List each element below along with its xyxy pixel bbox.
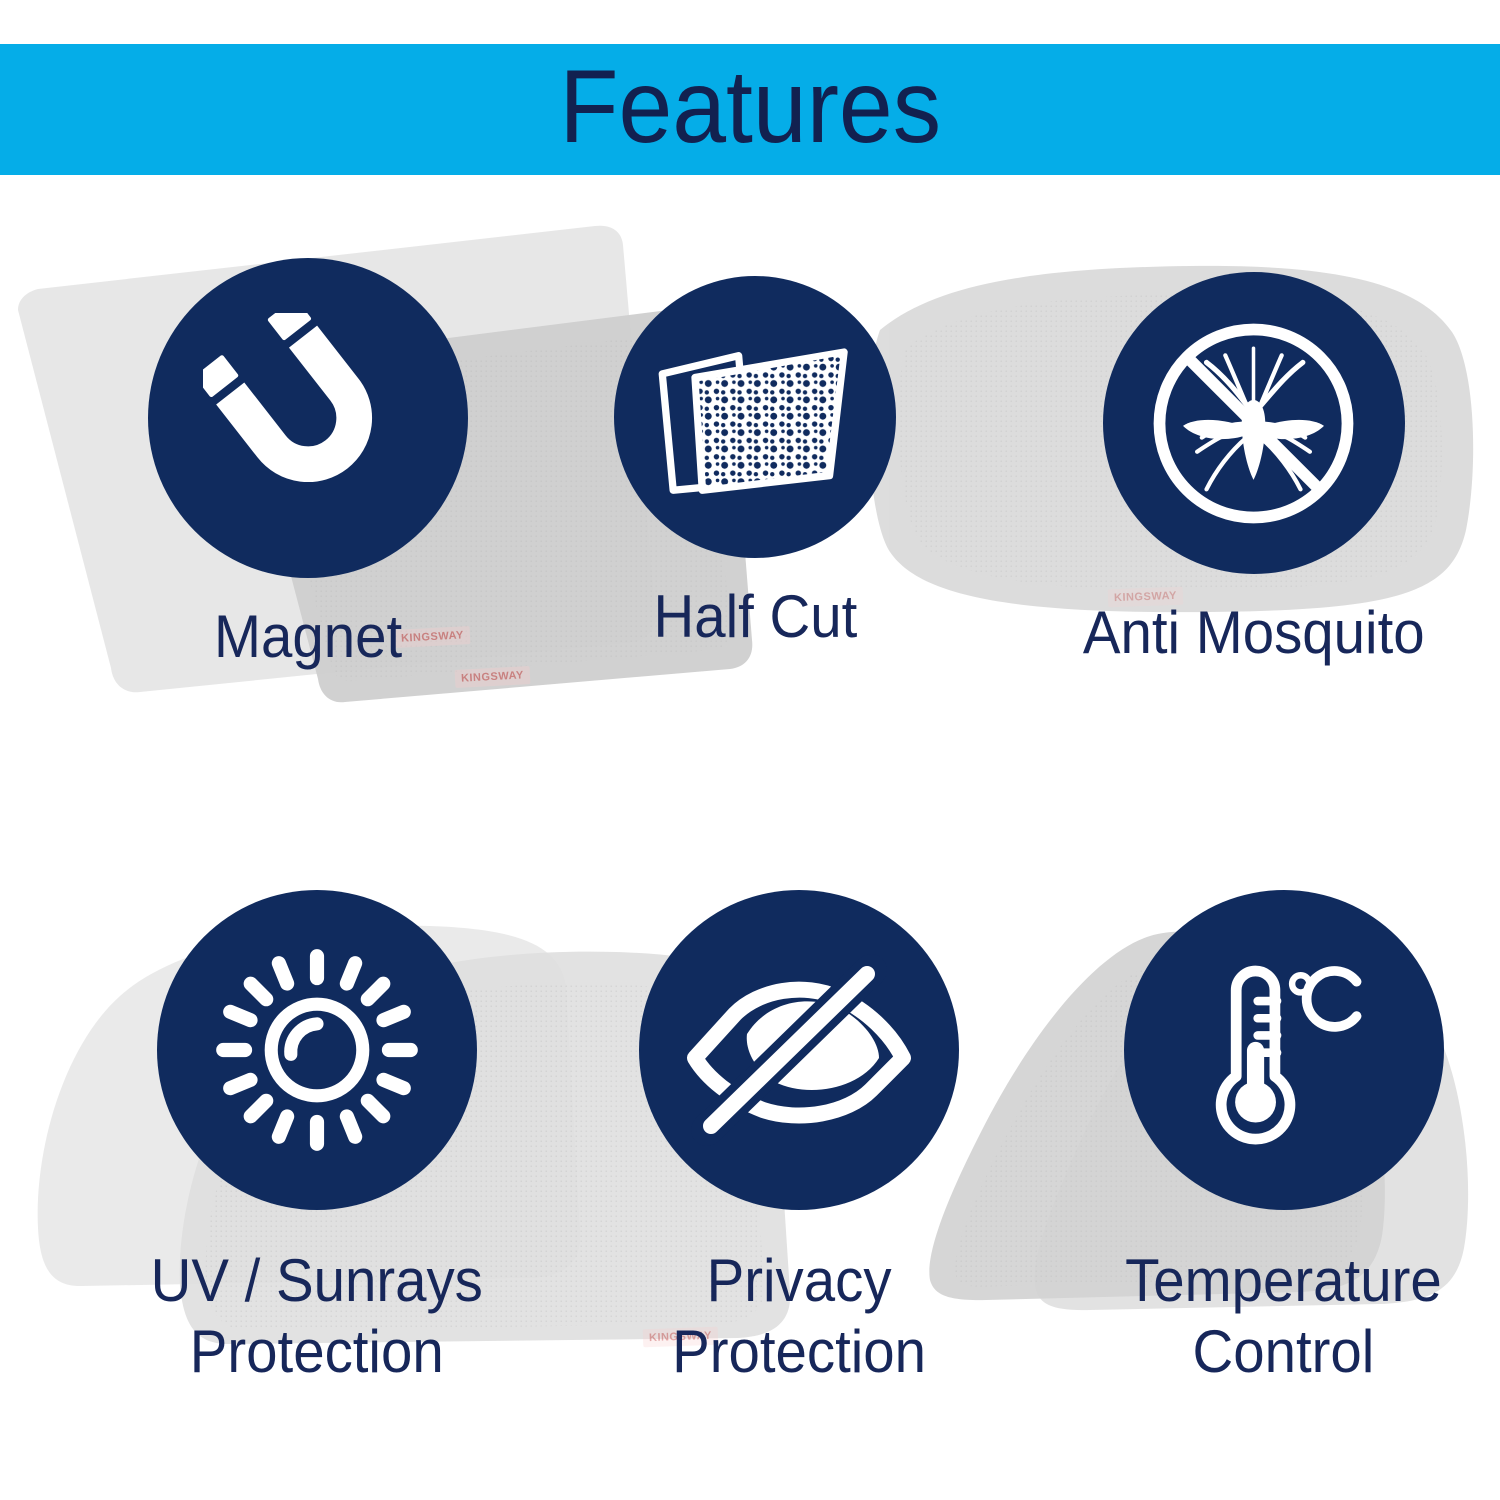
feature-icon-circle: [1124, 890, 1444, 1210]
magnet-icon: [203, 313, 413, 523]
feature-icon-circle: [1103, 272, 1405, 574]
features-header-band: Features: [0, 44, 1500, 175]
thermometer-celsius-icon: [1176, 943, 1391, 1158]
no-mosquito-icon: [1136, 306, 1371, 541]
feature-label: Magnet: [214, 602, 402, 673]
feature-card-half-cut[interactable]: Half Cut: [614, 258, 896, 653]
feature-icon-circle: [639, 890, 959, 1210]
feature-card-privacy-protection[interactable]: Privacy Protection: [639, 890, 959, 1388]
eye-slash-icon: [679, 950, 919, 1150]
feature-row-2: UV / Sunrays Protection Privacy Protecti…: [0, 890, 1500, 1388]
feature-card-uv-sunrays-protection[interactable]: UV / Sunrays Protection: [140, 890, 493, 1388]
page-title: Features: [559, 55, 941, 159]
sun-icon: [208, 941, 426, 1159]
feature-icon-circle: [157, 890, 477, 1210]
features-infographic: KINGSWAY KINGSWAY KINGSWAY KINGSWAY Feat…: [0, 0, 1500, 1500]
feature-label: Privacy Protection: [672, 1246, 926, 1388]
feature-card-magnet[interactable]: Magnet: [148, 258, 468, 673]
feature-icon-circle: [148, 258, 468, 578]
feature-label: Temperature Control: [1126, 1246, 1443, 1388]
feature-card-anti-mosquito[interactable]: Anti Mosquito: [1072, 258, 1436, 669]
feature-label: UV / Sunrays Protection: [151, 1246, 483, 1388]
feature-label: Anti Mosquito: [1083, 598, 1425, 669]
feature-label: Half Cut: [653, 582, 857, 653]
feature-card-temperature-control[interactable]: Temperature Control: [1115, 890, 1452, 1388]
feature-icon-circle: [614, 276, 896, 558]
feature-row-1: Magnet: [0, 258, 1500, 673]
half-cut-mesh-sheet-icon: [655, 330, 855, 505]
